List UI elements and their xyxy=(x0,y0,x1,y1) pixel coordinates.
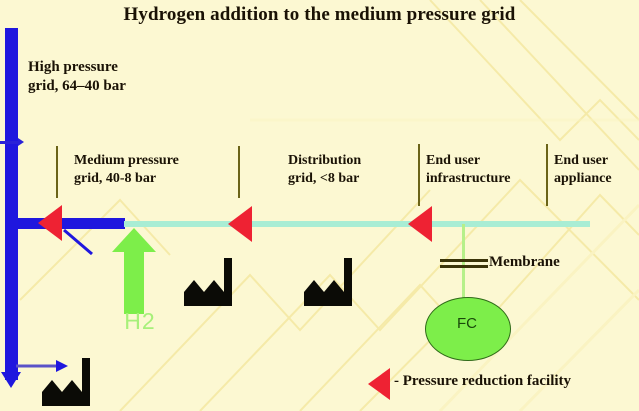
page-title: Hydrogen addition to the medium pressure… xyxy=(0,4,639,26)
membrane-stem xyxy=(462,224,465,302)
factory-icon xyxy=(300,258,358,306)
segment-label-end-user-infrastructure: End user infrastructure xyxy=(426,152,511,188)
pressure-reduction-facility-triangle-icon xyxy=(228,206,252,242)
segment-label-distribution: Distribution grid, <8 bar xyxy=(288,152,361,188)
blue-pointer-line xyxy=(62,228,100,258)
diagram-canvas: Hydrogen addition to the medium pressure… xyxy=(0,0,639,411)
membrane-plate-top-icon xyxy=(440,259,488,262)
divider-end-user-appliance xyxy=(546,144,548,206)
pressure-reduction-facility-triangle-icon xyxy=(38,205,62,241)
high-pressure-to-factory-arrow-icon xyxy=(16,358,70,374)
segment-label-end-user-appliance: End user appliance xyxy=(554,152,612,188)
membrane-label: Membrane xyxy=(489,254,560,271)
divider-medium-pressure xyxy=(56,146,58,198)
membrane-plate-bottom-icon xyxy=(440,265,488,268)
factory-icon xyxy=(180,258,238,306)
segment-label-medium-pressure: Medium pressure grid, 40-8 bar xyxy=(74,152,179,188)
divider-distribution xyxy=(238,146,240,198)
high-pressure-tick-arrow-icon xyxy=(18,138,24,146)
high-pressure-tick xyxy=(0,141,20,144)
legend-triangle-icon xyxy=(368,368,390,400)
hydrogen-injection-arrow-icon xyxy=(112,228,156,314)
h2-label: H2 xyxy=(110,308,170,335)
fuel-cell-label: FC xyxy=(425,315,509,332)
high-pressure-label: High pressure grid, 64–40 bar xyxy=(28,58,126,96)
distribution-mint-pipe xyxy=(124,221,590,227)
legend-label: - Pressure reduction facility xyxy=(394,373,571,390)
high-pressure-grid-bar xyxy=(5,28,18,380)
high-pressure-down-arrow-icon xyxy=(1,372,21,388)
divider-end-user-infrastructure xyxy=(418,144,420,206)
pressure-reduction-facility-triangle-icon xyxy=(408,206,432,242)
